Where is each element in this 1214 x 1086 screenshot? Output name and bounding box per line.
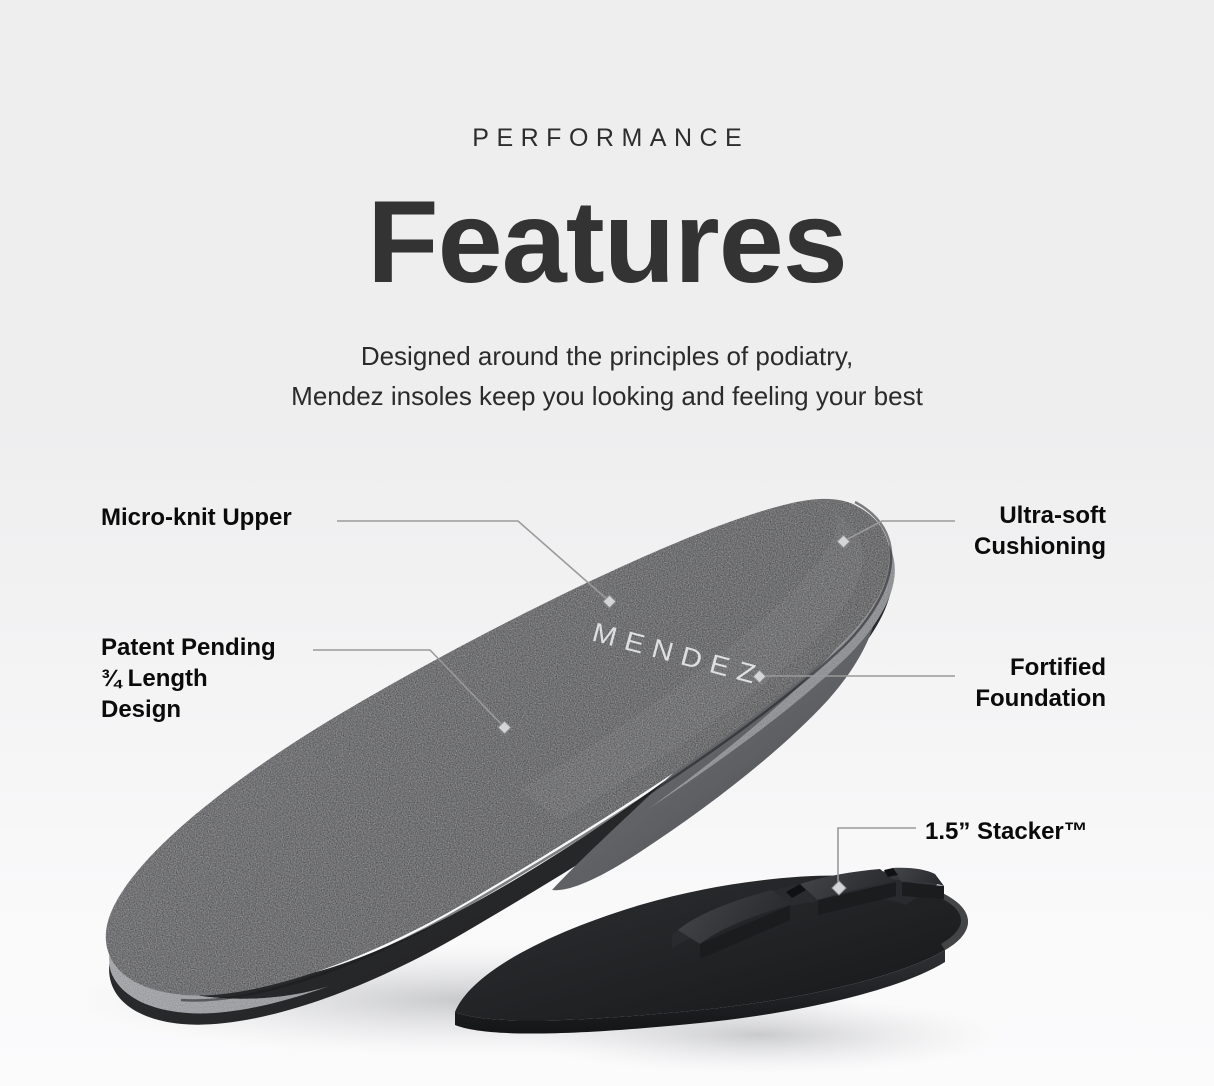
feature-infographic: PERFORMANCE Features Designed around the… [0,0,1214,1086]
callout-micro-knit-upper: Micro-knit Upper [101,502,292,533]
callout-ultra-soft-cushioning: Ultra-soft Cushioning [974,500,1106,562]
callout-stacker: 1.5” Stacker™ [925,816,1088,847]
callout-fortified-foundation: Fortified Foundation [975,652,1106,714]
callout-patent-pending: Patent Pending ¾ Length Design [101,632,276,725]
